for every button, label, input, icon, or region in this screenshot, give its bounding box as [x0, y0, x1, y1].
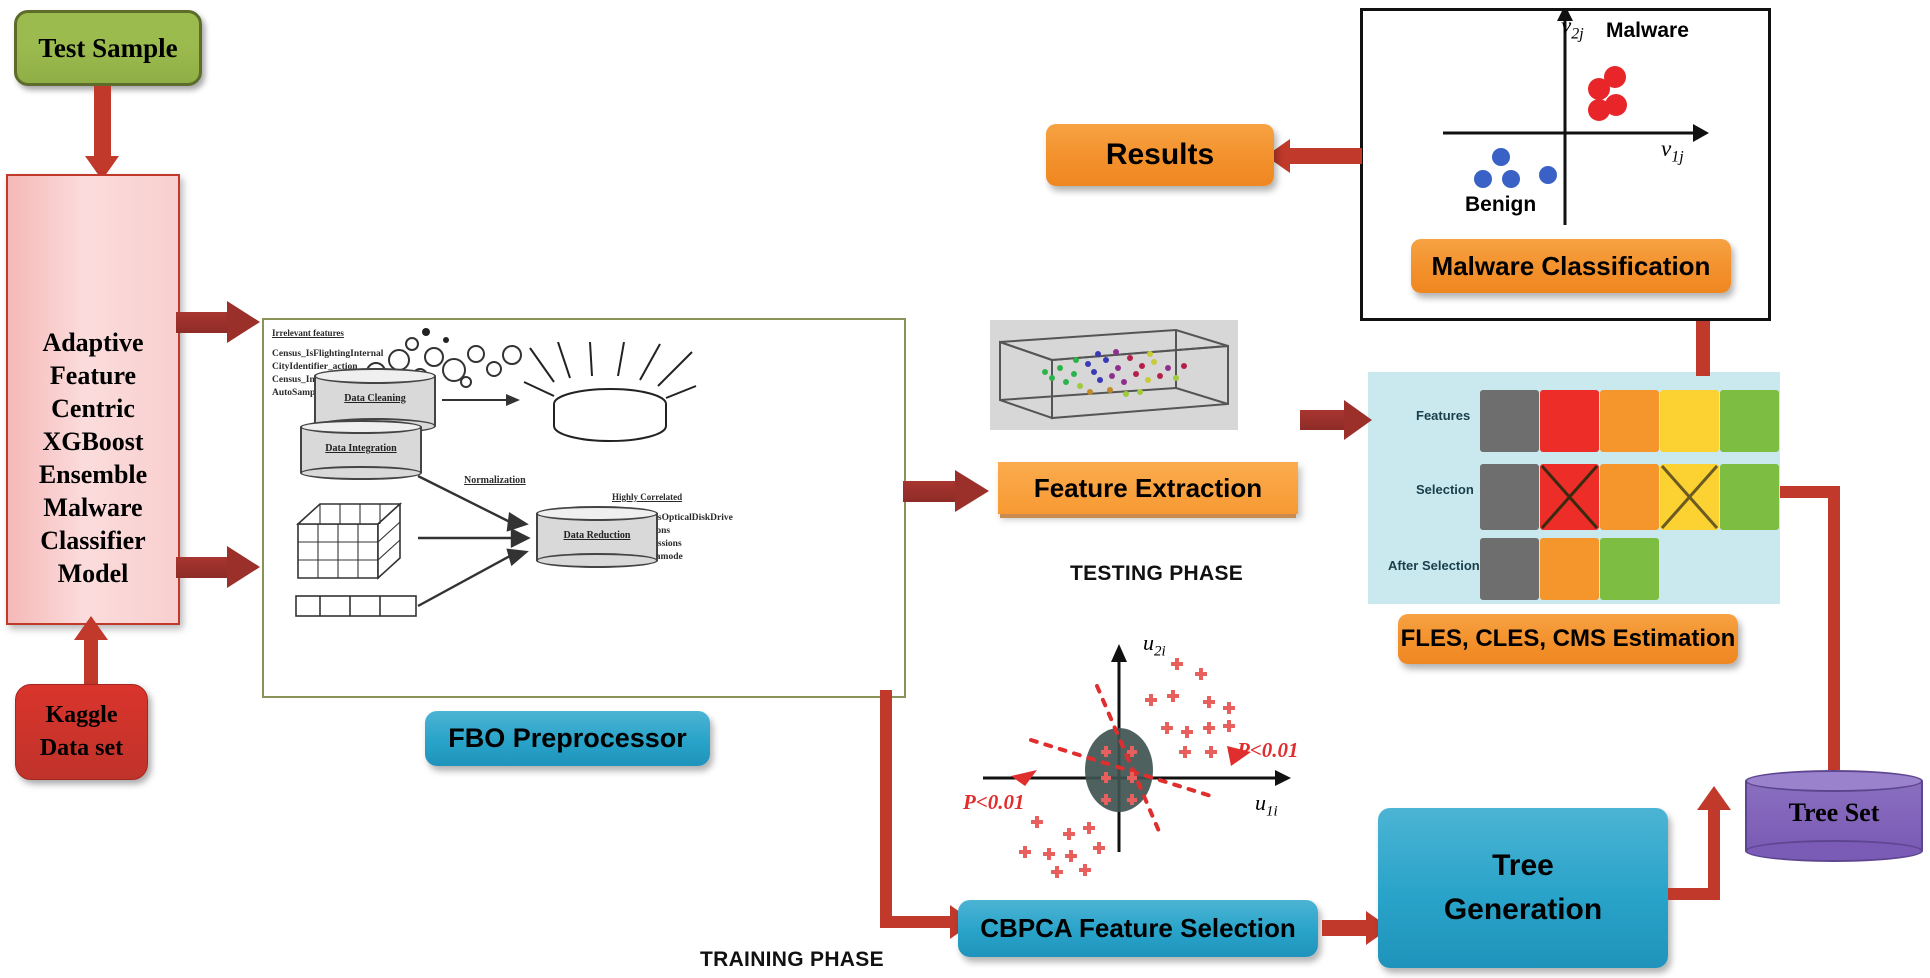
tree-generation-line-1: Tree — [1492, 844, 1554, 888]
tree-generation-button[interactable]: Tree Generation — [1378, 808, 1668, 968]
malware-x-axis-label: v1j — [1661, 136, 1684, 167]
grid-cell-a0 — [1480, 538, 1539, 600]
model-line-4: Ensemble — [8, 458, 178, 491]
classifier-model-node[interactable]: Adaptive Feature Centric XGBoost Ensembl… — [6, 174, 180, 625]
arrow-cleaning-to-normalization — [442, 390, 520, 410]
malware-classification-button[interactable]: Malware Classification — [1411, 239, 1731, 293]
cbpca-feature-selection-label: CBPCA Feature Selection — [980, 913, 1295, 944]
tree-set-label: Tree Set — [1745, 798, 1923, 828]
data-integration-label: Data Integration — [300, 443, 422, 454]
kaggle-line-2: Data set — [40, 732, 123, 765]
grid-cell-f3 — [1660, 390, 1719, 452]
grid-cell-a1 — [1540, 538, 1599, 600]
fbo-preprocessor-label: FBO Preprocessor — [448, 723, 687, 754]
kaggle-line-1: Kaggle — [46, 699, 118, 732]
cross-icon-red-cell — [1540, 464, 1599, 530]
feature-selection-grid-panel: Features Selection After Selection — [1368, 372, 1780, 604]
model-line-6: Classifier — [8, 524, 178, 557]
cbpca-x-axis-label: u1i — [1255, 790, 1278, 820]
results-label: Results — [1106, 138, 1214, 172]
grid-cell-f4 — [1720, 390, 1779, 452]
correlated-features-heading: Highly Correlated — [612, 492, 682, 502]
grid-cell-s0 — [1480, 464, 1539, 530]
test-sample-label: Test Sample — [38, 33, 177, 64]
malware-classification-label: Malware Classification — [1432, 251, 1711, 282]
cross-icon-yellow-cell — [1660, 464, 1719, 530]
cbpca-annotation-left: P<0.01 — [963, 790, 1025, 815]
model-line-0: Adaptive — [8, 326, 178, 359]
grid-row-label-features: Features — [1416, 408, 1470, 423]
model-line-5: Malware — [8, 491, 178, 524]
grid-cell-s4 — [1720, 464, 1779, 530]
data-cleaning-label: Data Cleaning — [314, 393, 436, 404]
feature-extraction-button[interactable]: Feature Extraction — [998, 462, 1298, 514]
grid-cell-s2 — [1600, 464, 1659, 530]
grid-cell-s3 — [1660, 464, 1719, 530]
arrow-model-to-preprocessor-top — [176, 301, 260, 343]
malware-y-axis-label: v2j — [1561, 13, 1584, 44]
cbpca-y-axis-label: u2i — [1143, 630, 1166, 660]
irrelevant-features-heading: Irrelevant features — [272, 328, 344, 338]
cbpca-feature-selection-button[interactable]: CBPCA Feature Selection — [958, 900, 1318, 957]
grid-cell-f0 — [1480, 390, 1539, 452]
tree-generation-line-2: Generation — [1444, 888, 1602, 932]
arrow-preprocessor-to-feature-extraction — [903, 470, 989, 512]
grid-cell-f2 — [1600, 390, 1659, 452]
data-integration-cylinder: Data Integration — [300, 420, 422, 480]
fbo-preprocessor-button[interactable]: FBO Preprocessor — [425, 711, 710, 766]
arrow-feature-extraction-to-grid — [1300, 400, 1372, 440]
model-line-3: XGBoost — [8, 425, 178, 458]
grid-cell-s1 — [1540, 464, 1599, 530]
test-sample-node[interactable]: Test Sample — [14, 10, 202, 86]
grid-row-label-after-selection: After Selection — [1388, 558, 1480, 573]
fles-cles-cms-button[interactable]: FLES, CLES, CMS Estimation — [1398, 614, 1738, 664]
training-phase-label: TRAINING PHASE — [700, 948, 884, 972]
grid-row-label-selection: Selection — [1416, 482, 1474, 497]
model-line-2: Centric — [8, 392, 178, 425]
results-button[interactable]: Results — [1046, 124, 1274, 186]
normalization-burst-graphic — [520, 342, 702, 460]
kaggle-dataset-node[interactable]: Kaggle Data set — [15, 684, 148, 780]
model-line-7: Model — [8, 557, 178, 590]
feature-extraction-cloud-panel — [990, 320, 1238, 430]
testing-phase-label: TESTING PHASE — [1070, 562, 1243, 586]
model-line-1: Feature — [8, 359, 178, 392]
arrows-to-data-reduction — [414, 460, 544, 620]
cbpca-annotation-right: P<0.01 — [1237, 738, 1299, 763]
fbo-preprocessor-panel: Irrelevant features Census_IsFlightingIn… — [262, 318, 906, 698]
data-reduction-cylinder: Data Reduction — [536, 506, 658, 568]
grid-cell-f1 — [1540, 390, 1599, 452]
data-table-graphic — [294, 592, 424, 622]
feature-extraction-label: Feature Extraction — [1034, 473, 1262, 504]
malware-legend-label: Malware — [1606, 19, 1689, 43]
fles-cles-cms-label: FLES, CLES, CMS Estimation — [1401, 625, 1736, 653]
arrow-model-to-preprocessor-bottom — [176, 546, 260, 588]
tree-set-cylinder[interactable]: Tree Set — [1745, 770, 1923, 862]
data-cube-graphic — [294, 500, 416, 584]
grid-cell-a2 — [1600, 538, 1659, 600]
malware-classification-panel: v2j Malware v1j Benign Malware Classific… — [1360, 8, 1771, 321]
benign-legend-label: Benign — [1465, 193, 1536, 217]
data-reduction-label: Data Reduction — [536, 530, 658, 541]
feature-extraction-3d-cloud — [990, 320, 1238, 430]
